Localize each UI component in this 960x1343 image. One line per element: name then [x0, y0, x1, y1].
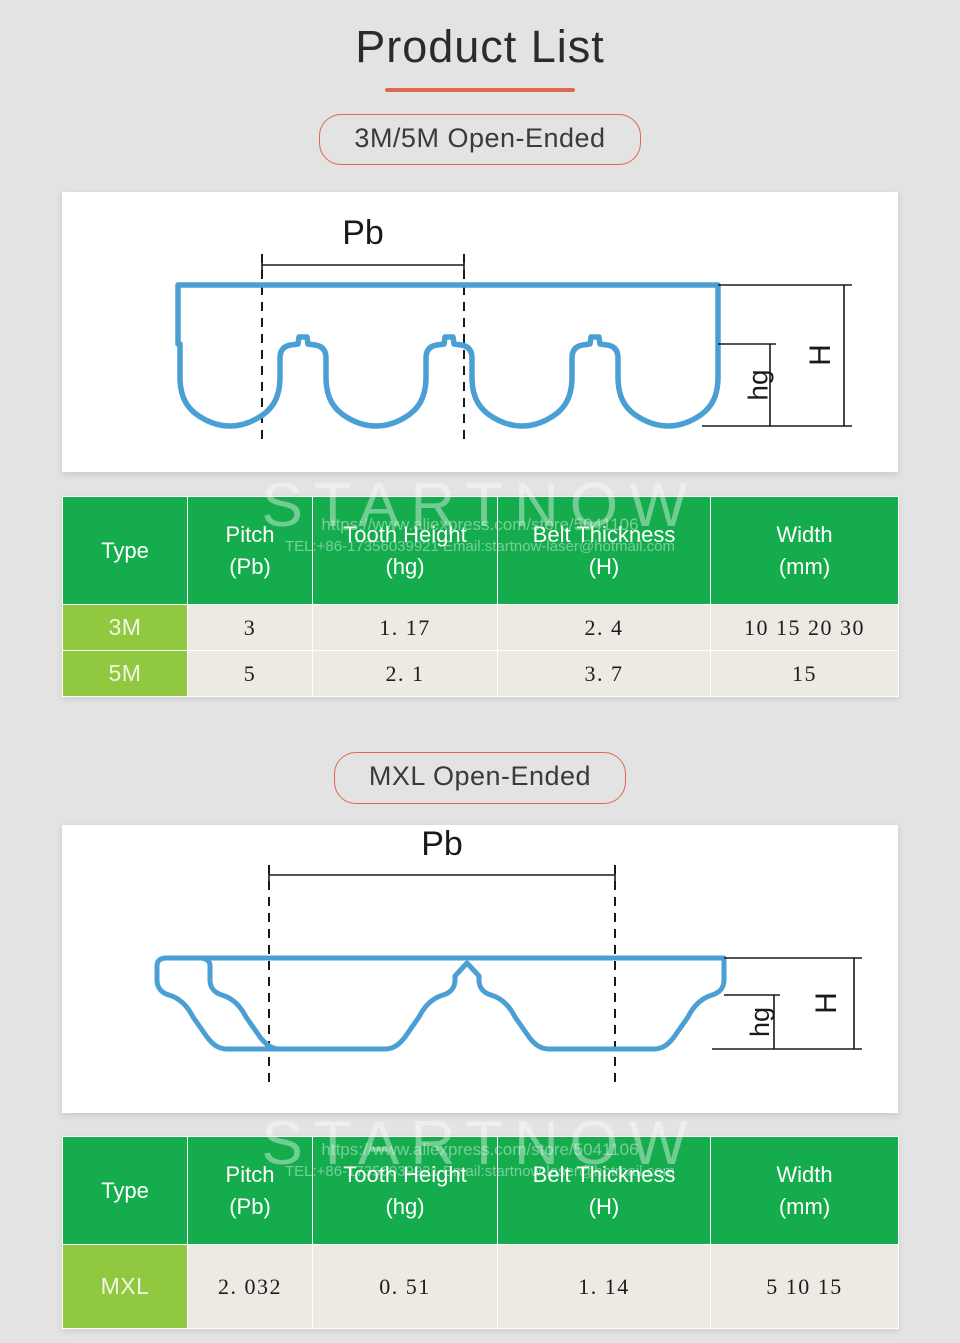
cell-pitch: 5 — [188, 651, 313, 697]
col-header-width: Width (mm) — [711, 1137, 899, 1245]
cell-pitch: 3 — [188, 605, 313, 651]
cell-tooth-height: 1. 17 — [313, 605, 498, 651]
spec-table-3m5m: Type Pitch (Pb) Tooth Height (hg) Belt T… — [62, 496, 899, 697]
diagram-card-3m5m: hg H Pb — [62, 192, 898, 472]
col-header-type: Type — [63, 1137, 188, 1245]
label-H-mxl: H — [810, 992, 843, 1014]
table-header-row: Type Pitch (Pb) Tooth Height (hg) Belt T… — [63, 1137, 899, 1245]
cell-width: 5 10 15 — [711, 1245, 899, 1329]
section-badge-3m5m[interactable]: 3M/5M Open-Ended — [319, 114, 640, 166]
title-underline-accent — [385, 88, 575, 92]
spec-table-mxl: Type Pitch (Pb) Tooth Height (hg) Belt T… — [62, 1136, 899, 1329]
col-header-width: Width (mm) — [711, 497, 899, 605]
col-header-belt-thickness: Belt Thickness (H) — [498, 1137, 711, 1245]
label-Pb-3m5m: Pb — [342, 214, 384, 252]
page-title: Product List — [0, 0, 960, 72]
cell-type: 3M — [63, 605, 188, 651]
col-header-tooth-height: Tooth Height (hg) — [313, 1137, 498, 1245]
col-header-pitch: Pitch (Pb) — [188, 1137, 313, 1245]
belt-cross-section-3m5m-svg: hg H Pb — [62, 192, 898, 472]
label-Pb-mxl: Pb — [421, 825, 463, 863]
col-header-tooth-height: Tooth Height (hg) — [313, 497, 498, 605]
cell-belt-thickness: 2. 4 — [498, 605, 711, 651]
cell-type: MXL — [63, 1245, 188, 1329]
section-badge-wrap-mxl: MXL Open-Ended — [0, 752, 960, 804]
cell-belt-thickness: 1. 14 — [498, 1245, 711, 1329]
cell-tooth-height: 2. 1 — [313, 651, 498, 697]
diagram-card-mxl: hg H Pb — [62, 825, 898, 1113]
cell-width: 10 15 20 30 — [711, 605, 899, 651]
col-header-type: Type — [63, 497, 188, 605]
belt-cross-section-mxl-svg: hg H Pb — [62, 825, 898, 1113]
table-header-row: Type Pitch (Pb) Tooth Height (hg) Belt T… — [63, 497, 899, 605]
cell-pitch: 2. 032 — [188, 1245, 313, 1329]
col-header-belt-thickness: Belt Thickness (H) — [498, 497, 711, 605]
cell-tooth-height: 0. 51 — [313, 1245, 498, 1329]
cell-belt-thickness: 3. 7 — [498, 651, 711, 697]
table-row: MXL 2. 032 0. 51 1. 14 5 10 15 — [63, 1245, 899, 1329]
belt-profile-path-mxl — [157, 958, 724, 1049]
table-row: 3M 3 1. 17 2. 4 10 15 20 30 — [63, 605, 899, 651]
table-row: 5M 5 2. 1 3. 7 15 — [63, 651, 899, 697]
label-hg-mxl: hg — [745, 1007, 775, 1037]
label-H-3m5m: H — [804, 344, 837, 366]
cell-type: 5M — [63, 651, 188, 697]
label-hg-3m5m: hg — [742, 369, 773, 400]
section-badge-wrap-3m5m: 3M/5M Open-Ended — [0, 114, 960, 166]
belt-profile-path-3m5m — [178, 285, 718, 426]
cell-width: 15 — [711, 651, 899, 697]
section-badge-mxl[interactable]: MXL Open-Ended — [334, 752, 626, 804]
col-header-pitch: Pitch (Pb) — [188, 497, 313, 605]
